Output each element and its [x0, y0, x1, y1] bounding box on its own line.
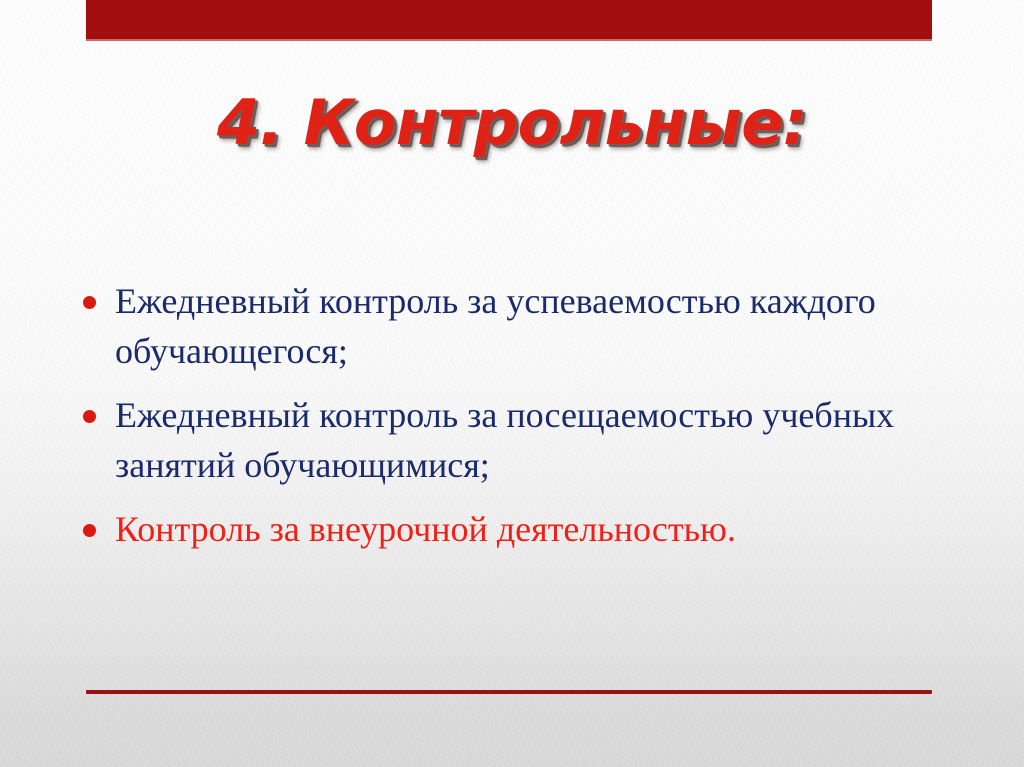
- bullet-dot-icon: [83, 296, 96, 309]
- list-item: Ежедневный контроль за успеваемостью каж…: [70, 276, 960, 376]
- bullet-text: Контроль за внеурочной деятельностью.: [115, 504, 960, 554]
- bottom-divider: [86, 690, 932, 694]
- bullet-text: Ежедневный контроль за успеваемостью каж…: [115, 276, 960, 376]
- slide: 4. Контрольные: Ежедневный контроль за у…: [0, 0, 1024, 767]
- bullet-list: Ежедневный контроль за успеваемостью каж…: [70, 276, 960, 568]
- slide-title: 4. Контрольные:: [0, 84, 1024, 162]
- bullet-dot-icon: [83, 410, 96, 423]
- top-red-banner: [86, 0, 932, 41]
- bullet-text: Ежедневный контроль за посещаемостью уче…: [115, 390, 960, 490]
- bullet-dot-icon: [83, 524, 96, 537]
- list-item: Ежедневный контроль за посещаемостью уче…: [70, 390, 960, 490]
- list-item: Контроль за внеурочной деятельностью.: [70, 504, 960, 554]
